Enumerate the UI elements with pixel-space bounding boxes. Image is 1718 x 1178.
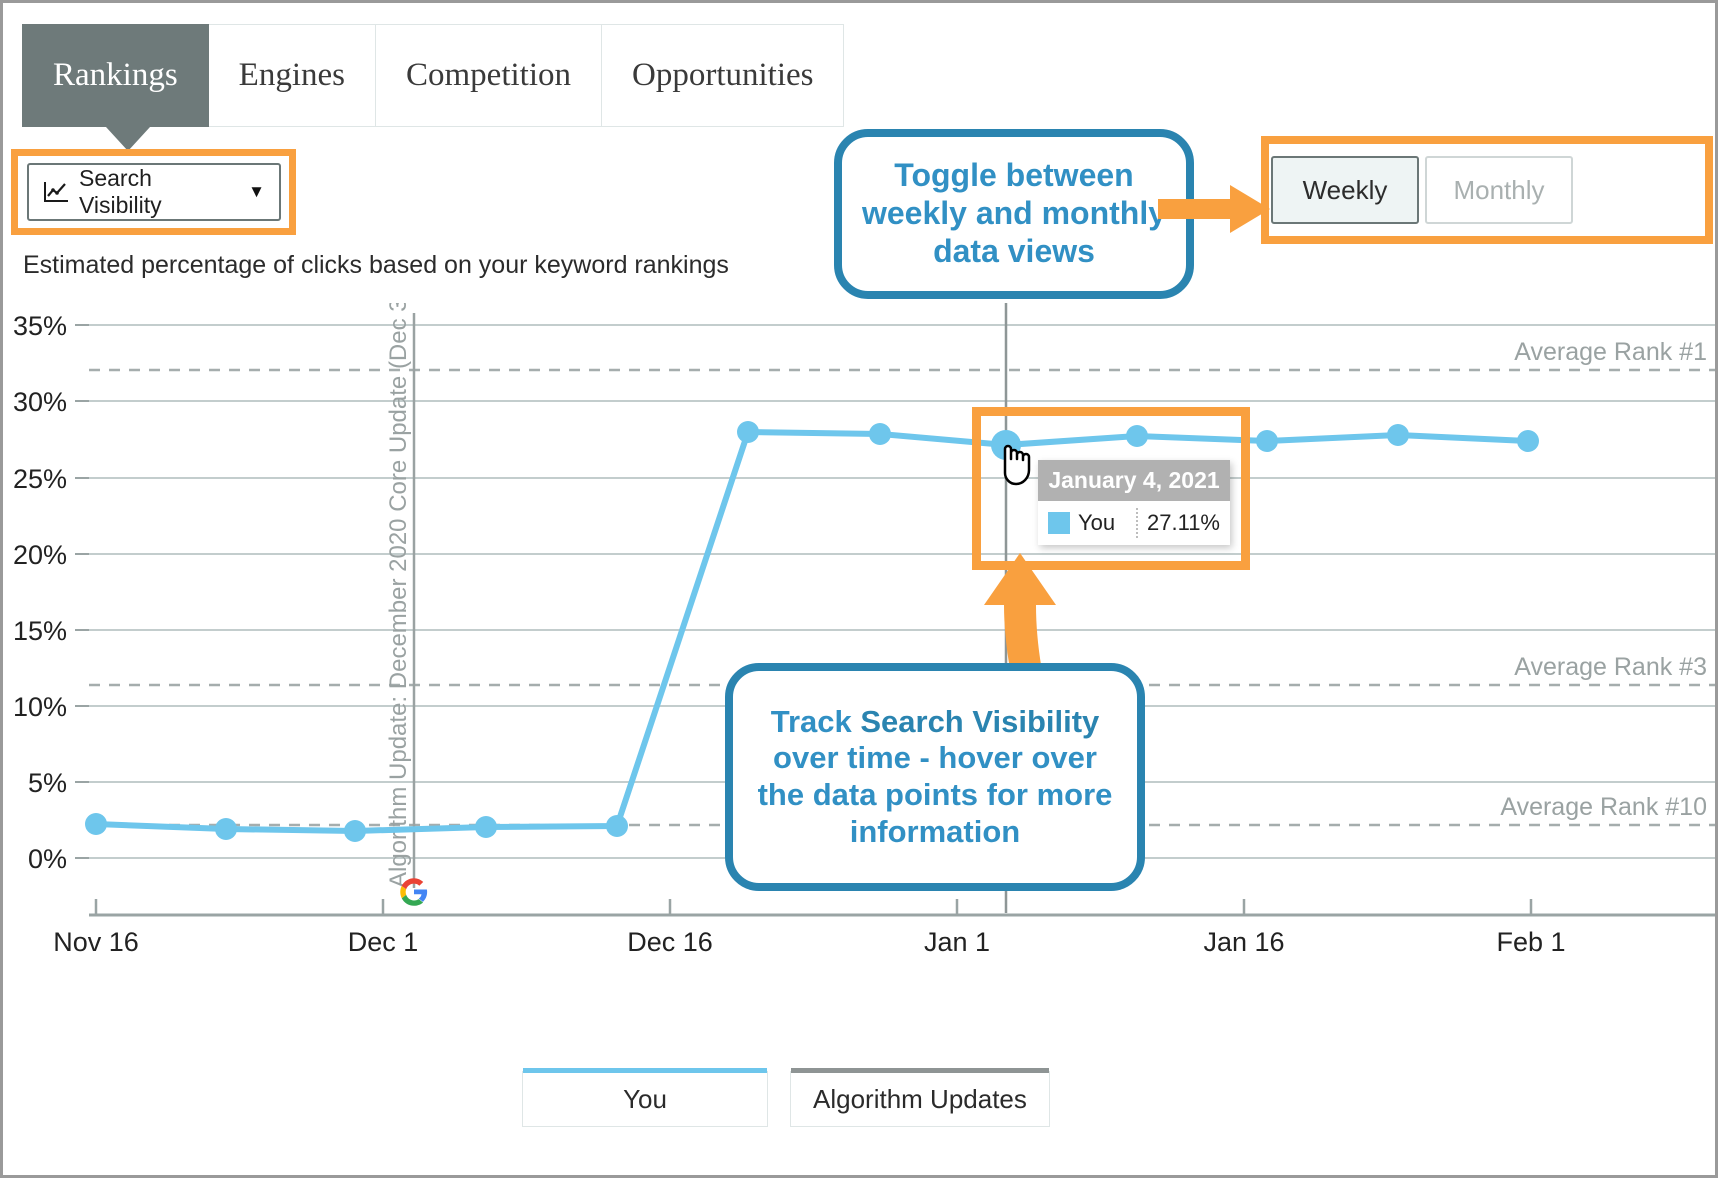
callout-track-suffix: over time - hover over the data points f… <box>758 740 1113 848</box>
tooltip-series-name: You <box>1078 510 1128 536</box>
callout-track-bold: Search Visibility <box>860 704 1099 739</box>
callout-track: Track Search Visibility over time - hove… <box>725 663 1145 891</box>
tab-rankings[interactable]: Rankings <box>22 24 209 127</box>
pointer-cursor-icon <box>995 440 1039 486</box>
callout-toggle: Toggle between weekly and monthly data v… <box>834 129 1194 299</box>
tab-bar: Rankings Engines Competition Opportuniti… <box>22 24 844 127</box>
xtick-feb1: Feb 1 <box>1496 927 1565 957</box>
ytick-5: 5% <box>28 768 67 798</box>
ytick-0: 0% <box>28 844 67 874</box>
xtick-dec16: Dec 16 <box>627 927 713 957</box>
monthly-button[interactable]: Monthly <box>1425 156 1573 224</box>
weekly-button[interactable]: Weekly <box>1271 156 1419 224</box>
ytick-30: 30% <box>13 387 67 417</box>
ytick-10: 10% <box>13 692 67 722</box>
tab-opportunities[interactable]: Opportunities <box>602 24 844 127</box>
ytick-35: 35% <box>13 311 67 341</box>
ref-label-rank3: Average Rank #3 <box>1514 653 1707 681</box>
callout-track-text: Track Search Visibility over time - hove… <box>749 704 1121 850</box>
xtick-nov16: Nov 16 <box>53 927 139 957</box>
metric-selector-label: Search Visibility <box>79 165 238 219</box>
ref-label-rank10: Average Rank #10 <box>1500 793 1707 821</box>
tab-engines[interactable]: Engines <box>209 24 376 127</box>
xtick-jan1: Jan 1 <box>924 927 990 957</box>
search-visibility-dashboard: Rankings Engines Competition Opportuniti… <box>0 0 1718 1178</box>
ytick-25: 25% <box>13 464 67 494</box>
chart-subtitle: Estimated percentage of clicks based on … <box>23 251 729 280</box>
range-toggle-group: Weekly Monthly <box>1271 156 1573 224</box>
ytick-20: 20% <box>13 540 67 570</box>
tooltip-value: 27.11% <box>1147 510 1224 536</box>
ytick-15: 15% <box>13 616 67 646</box>
tab-competition[interactable]: Competition <box>376 24 602 127</box>
legend-item-you[interactable]: You <box>522 1071 768 1127</box>
ref-label-rank1: Average Rank #1 <box>1514 338 1707 366</box>
callout-track-prefix: Track <box>771 704 861 739</box>
google-icon <box>399 877 429 907</box>
xtick-jan16: Jan 16 <box>1203 927 1284 957</box>
chart-tooltip: January 4, 2021 You 27.11% <box>1038 460 1230 545</box>
legend-item-algorithm-updates[interactable]: Algorithm Updates <box>790 1071 1050 1127</box>
metric-selector-button[interactable]: Search Visibility ▼ <box>27 163 281 221</box>
xtick-dec1: Dec 1 <box>348 927 419 957</box>
tooltip-series-swatch <box>1048 512 1070 534</box>
callout-arrow-right <box>1158 185 1274 233</box>
tooltip-date: January 4, 2021 <box>1038 460 1230 501</box>
chevron-down-icon: ▼ <box>248 182 265 202</box>
chart-legend: You Algorithm Updates <box>522 1071 1050 1127</box>
callout-toggle-text: Toggle between weekly and monthly data v… <box>860 157 1168 270</box>
tooltip-divider <box>1136 508 1139 538</box>
algo-update-label: Algorithm Update: December 2020 Core Upd… <box>385 303 412 888</box>
tooltip-row: You 27.11% <box>1038 501 1230 545</box>
line-chart-icon <box>43 180 69 204</box>
active-tab-pointer <box>106 127 150 151</box>
